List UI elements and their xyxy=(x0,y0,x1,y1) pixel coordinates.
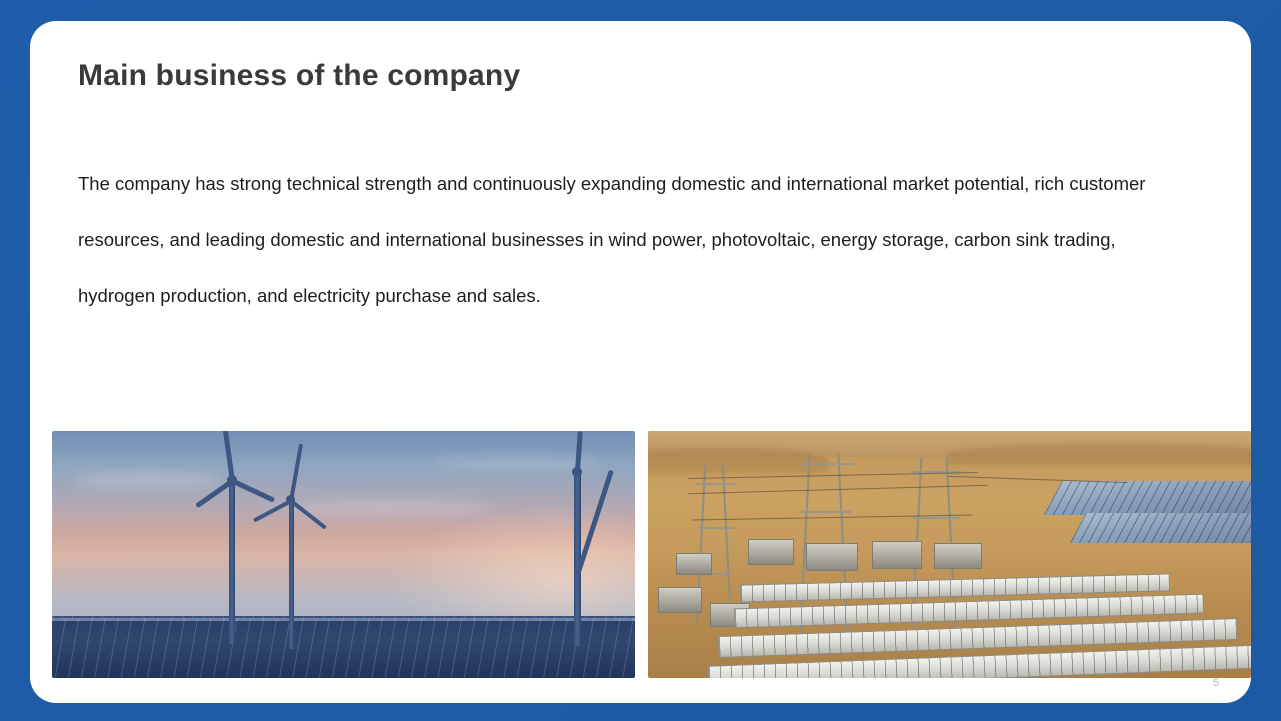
turbine-mast xyxy=(289,499,294,649)
wind-turbines-solar-panels-photo xyxy=(52,431,635,678)
page-number: 5 xyxy=(1213,677,1219,689)
transformer-unit xyxy=(872,541,922,569)
page-title: Main business of the company xyxy=(78,59,520,93)
tower-crossarm xyxy=(801,511,851,513)
pv-array-near xyxy=(1070,513,1251,543)
transformer-unit xyxy=(934,543,982,569)
slide: Main business of the company The company… xyxy=(0,0,1281,721)
turbine-blade xyxy=(290,499,327,529)
transformer-unit xyxy=(748,539,794,565)
desert-substation-battery-storage-photo xyxy=(648,431,1251,678)
transformer-unit xyxy=(658,587,702,613)
tower-crossarm xyxy=(798,463,854,465)
tower-crossarm xyxy=(913,517,959,519)
pv-array-far xyxy=(1044,481,1251,515)
transformer-unit xyxy=(806,543,858,571)
tower-crossarm xyxy=(698,527,734,529)
image-row xyxy=(52,431,1251,681)
wind-turbine-2 xyxy=(232,459,352,649)
transmission-tower-1 xyxy=(696,465,736,625)
dune-2 xyxy=(948,443,1251,465)
tower-crossarm xyxy=(696,483,736,485)
body-paragraph: The company has strong technical strengt… xyxy=(78,156,1188,324)
tower-leg xyxy=(722,465,732,625)
transformer-unit xyxy=(676,553,712,575)
wind-turbine-3 xyxy=(512,441,622,641)
turbine-blade xyxy=(253,499,292,522)
slide-card: Main business of the company The company… xyxy=(30,21,1251,703)
